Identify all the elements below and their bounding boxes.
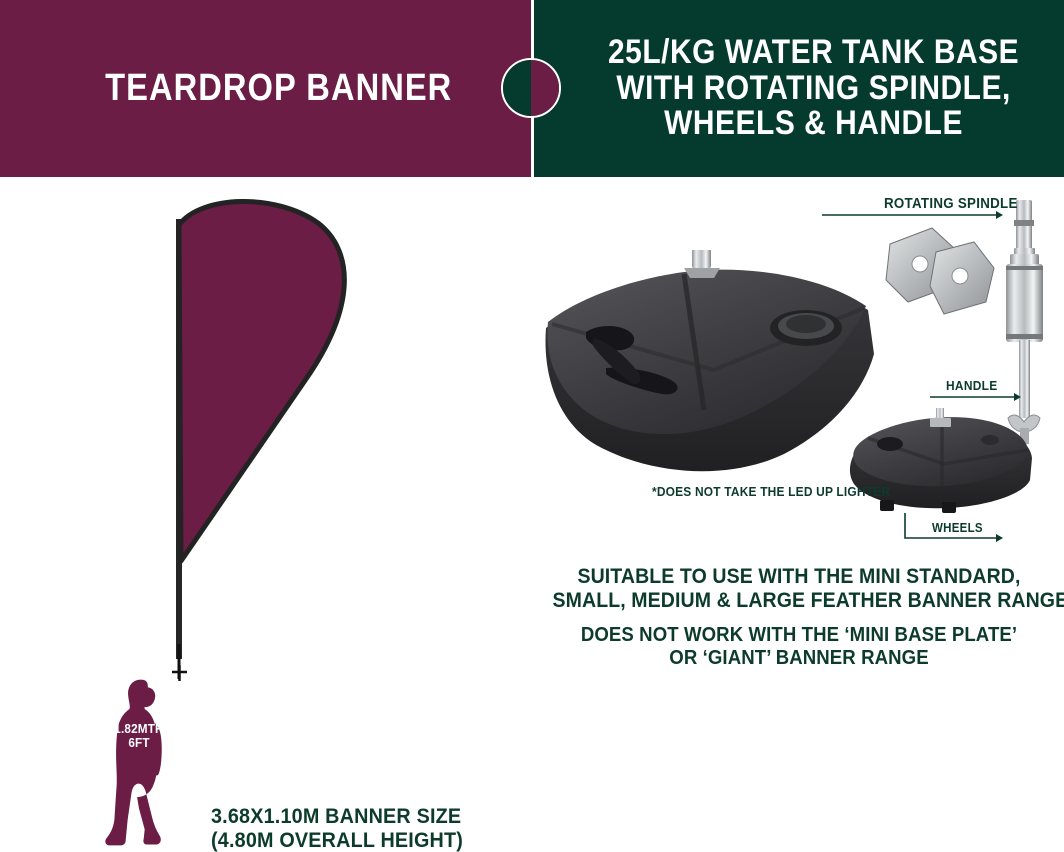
spindle-body-groove-top [1006,266,1043,270]
banner-sail [179,201,344,561]
person-height-label: 1.82MTR 6FT [107,722,172,750]
banner-size-line-1: 3.68X1.10M BANNER SIZE [211,804,487,828]
banner-size-caption: 3.68X1.10M BANNER SIZE (4.80M OVERALL HE… [211,804,487,852]
spindle-ring-1 [1014,220,1034,226]
header-left-title: TEARDROP BANNER [79,69,452,109]
circle-left-half [503,60,531,116]
infographic-root: TEARDROP BANNER 25L/KG WATER TANK BASE W… [0,0,1064,709]
banner-size-line-2: (4.80M OVERALL HEIGHT) [211,828,487,852]
spindle-body [1006,264,1043,342]
secondary-spindle-flange [930,418,951,427]
wheel-left [880,500,894,511]
suitable-line-2: SMALL, MEDIUM & LARGE FEATHER BANNER RAN… [553,589,1046,613]
metal-plate-left-hole [912,256,928,272]
suitable-line-1: SUITABLE TO USE WITH THE MINI STANDARD, [553,565,1046,589]
spindle-lower-rod [1019,340,1030,418]
callout-label-handle: HANDLE [946,378,997,393]
person-head [141,687,156,707]
compatibility-text-block: SUITABLE TO USE WITH THE MINI STANDARD, … [534,565,1064,670]
spindle-collar [692,250,711,268]
metal-plate-pair-photo [880,224,1000,324]
wheel-right [942,502,956,513]
person-silhouette-icon [103,674,175,852]
person-height-imperial: 6FT [107,736,172,750]
teardrop-banner-illustration [156,189,366,689]
header-right-line-2: WITH ROTATING SPINDLE, [608,71,1019,106]
header-right-title: 25L/KG WATER TANK BASE WITH ROTATING SPI… [578,35,1019,141]
not-suitable-line-1: DOES NOT WORK WITH THE ‘MINI BASE PLATE’ [553,624,1046,647]
water-tank-base-main-photo [534,250,884,510]
header-right-banner: 25L/KG WATER TANK BASE WITH ROTATING SPI… [534,0,1064,177]
person-body [105,680,160,846]
secondary-port [981,435,999,445]
callout-label-wheels: WHEELS [932,521,983,535]
water-tank-base-secondary-photo [838,408,1038,526]
spindle-base-flange [684,268,720,278]
fill-cap-inner [786,315,826,333]
person-height-metric: 1.82MTR [107,722,172,736]
header-right-line-1: 25L/KG WATER TANK BASE [608,35,1019,70]
header-left-banner: TEARDROP BANNER [0,0,531,177]
compatibility-suitable: SUITABLE TO USE WITH THE MINI STANDARD, … [553,565,1046,612]
secondary-fill-cap [877,437,903,451]
metal-plate-right-hole [952,268,968,284]
header-divider-circle-icon [501,58,561,118]
header-right-line-3: WHEELS & HANDLE [608,106,1019,141]
left-panel: 1.82MTR 6FT 3.68X1.10M BANNER SIZE (4.80… [0,177,534,709]
spindle-body-groove-bottom [1006,334,1043,339]
footnote-led-up-lighter: *DOES NOT TAKE THE LED UP LIGHTER [652,484,890,499]
callout-label-rotating-spindle: ROTATING SPINDLE [884,196,1018,212]
compatibility-not-suitable: DOES NOT WORK WITH THE ‘MINI BASE PLATE’… [553,624,1046,669]
not-suitable-line-2: OR ‘GIANT’ BANNER RANGE [553,647,1046,670]
circle-right-half [531,60,559,116]
